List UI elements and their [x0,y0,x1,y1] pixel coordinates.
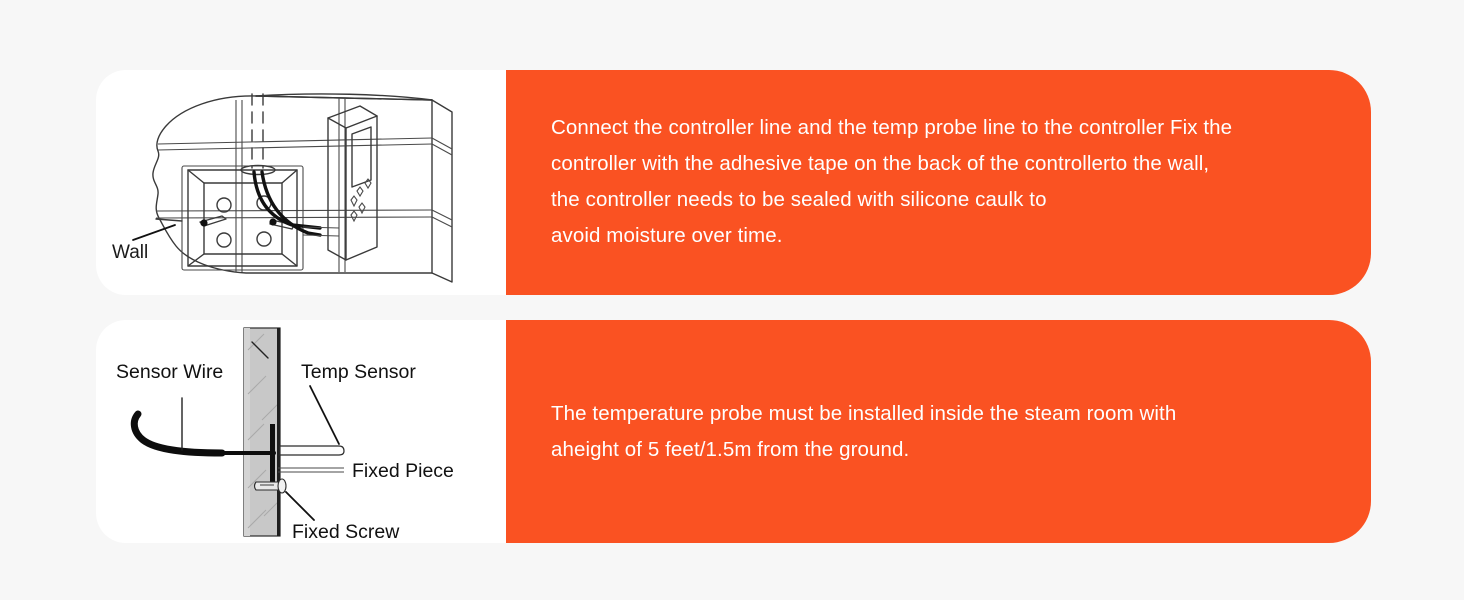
fixed-piece-label: Fixed Piece [352,460,454,482]
instruction-row-temp-probe-install: Sensor Wire Temp Sensor Fixed Piece Fixe… [96,320,1371,543]
instruction-text-panel-temp-probe: The temperature probe must be installed … [506,320,1371,543]
illustration-card-controller: Wall [96,70,506,295]
instruction-row-controller-install: Wall Connect the controller line and the… [96,70,1371,295]
instruction-text-temp-probe: The temperature probe must be installed … [551,396,1331,468]
sensor-wire-label: Sensor Wire [116,361,223,383]
illustration-card-temp-sensor: Sensor Wire Temp Sensor Fixed Piece Fixe… [96,320,506,543]
temp-sensor-wall-mount-diagram: Sensor Wire Temp Sensor Fixed Piece Fixe… [96,320,506,543]
wall-label: Wall [112,242,148,263]
instruction-board: Wall Connect the controller line and the… [0,0,1464,600]
wall-controller-junction-box-diagram: Wall [96,70,506,295]
instruction-text-controller: Connect the controller line and the temp… [551,110,1331,254]
fixed-screw-label: Fixed Screw [292,521,400,543]
instruction-text-panel-controller: Connect the controller line and the temp… [506,70,1371,295]
temp-sensor-label: Temp Sensor [301,361,416,383]
